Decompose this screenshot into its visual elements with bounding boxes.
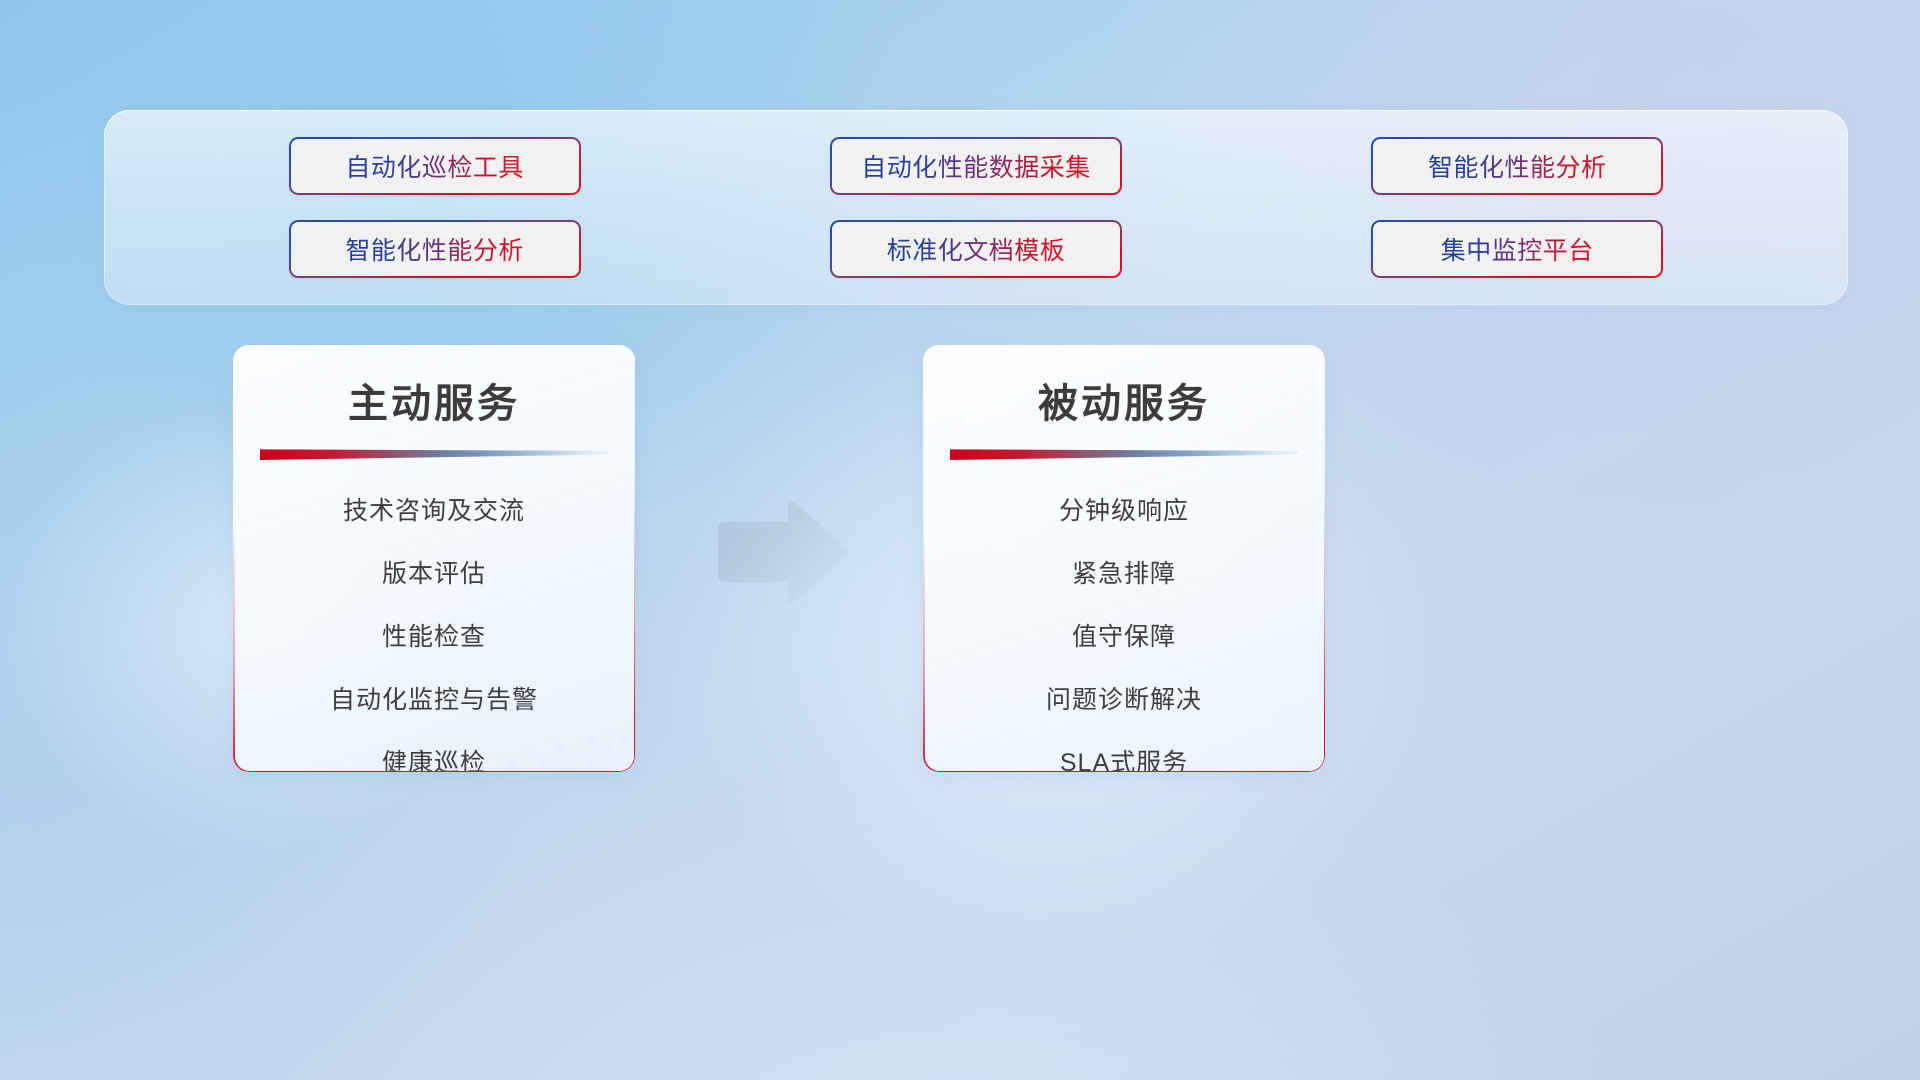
- list-item[interactable]: 分钟级响应: [1059, 490, 1189, 533]
- capability-pill[interactable]: 自动化巡检工具: [289, 137, 581, 195]
- list-item[interactable]: 性能检查: [382, 616, 486, 659]
- capability-pill-label: 标准化文档模板: [887, 231, 1066, 267]
- list-item[interactable]: 自动化监控与告警: [330, 679, 538, 722]
- capability-pill[interactable]: 智能化性能分析: [1371, 137, 1663, 195]
- diagram-canvas: 自动化巡检工具 自动化性能数据采集 智能化性能分析 智能化性能分析 标准化文档模…: [0, 0, 1920, 1080]
- service-item-list: 分钟级响应 紧急排障 值守保障 问题诊断解决 SLA式服务: [923, 490, 1325, 772]
- list-item[interactable]: 技术咨询及交流: [343, 490, 525, 533]
- title-divider-wedge: [950, 447, 1298, 460]
- list-item[interactable]: 值守保障: [1072, 616, 1176, 659]
- capability-pill[interactable]: 自动化性能数据采集: [830, 137, 1122, 195]
- title-divider: [950, 447, 1298, 460]
- title-divider: [260, 447, 608, 460]
- list-item[interactable]: 健康巡检: [382, 742, 486, 772]
- list-item[interactable]: 紧急排障: [1072, 553, 1176, 596]
- right-arrow-icon: [712, 498, 852, 606]
- capability-pill[interactable]: 标准化文档模板: [830, 220, 1122, 278]
- service-card-reactive[interactable]: 被动服务 分钟级响应 紧急排障 值守保障 问题诊断解决 SLA式服务: [923, 345, 1325, 772]
- list-item[interactable]: SLA式服务: [1060, 742, 1188, 772]
- title-divider-wedge: [260, 447, 608, 460]
- card-title: 被动服务: [923, 371, 1325, 429]
- list-item[interactable]: 版本评估: [382, 553, 486, 596]
- list-item[interactable]: 问题诊断解决: [1046, 679, 1202, 722]
- capability-pill-label: 智能化性能分析: [345, 231, 524, 267]
- capability-pill[interactable]: 集中监控平台: [1371, 220, 1663, 278]
- capability-pill-label: 自动化巡检工具: [345, 148, 524, 184]
- pill-grid: 自动化巡检工具 自动化性能数据采集 智能化性能分析 智能化性能分析 标准化文档模…: [104, 110, 1848, 305]
- capability-pill-label: 集中监控平台: [1441, 231, 1594, 267]
- capability-pill[interactable]: 智能化性能分析: [289, 220, 581, 278]
- capability-pill-panel: 自动化巡检工具 自动化性能数据采集 智能化性能分析 智能化性能分析 标准化文档模…: [104, 110, 1848, 305]
- service-item-list: 技术咨询及交流 版本评估 性能检查 自动化监控与告警 健康巡检: [233, 490, 635, 772]
- service-card-proactive[interactable]: 主动服务 技术咨询及交流 版本评估 性能检查 自动化监控与告警 健康巡检: [233, 345, 635, 772]
- capability-pill-label: 自动化性能数据采集: [861, 148, 1091, 184]
- card-title: 主动服务: [233, 371, 635, 429]
- capability-pill-label: 智能化性能分析: [1428, 148, 1607, 184]
